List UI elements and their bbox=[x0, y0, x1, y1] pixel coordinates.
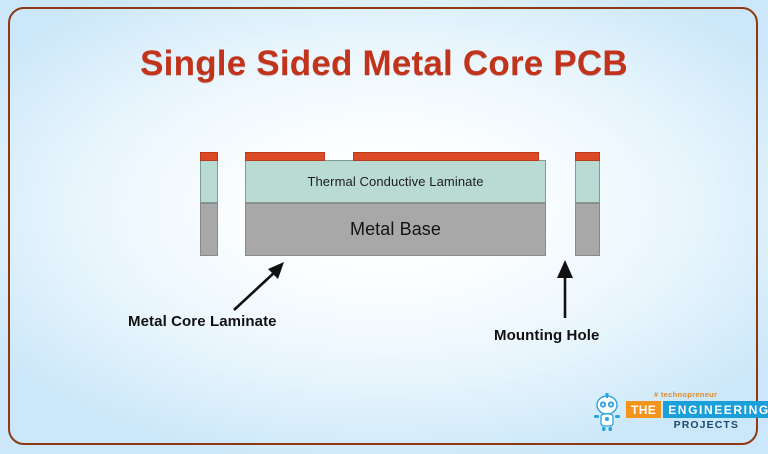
thermal-conductive-laminate-label: Thermal Conductive Laminate bbox=[307, 174, 483, 189]
left-edge-stack bbox=[200, 160, 218, 256]
page-title: Single Sided Metal Core PCB bbox=[0, 44, 768, 84]
right-metal-base-segment bbox=[575, 203, 600, 256]
right-edge-stack bbox=[575, 160, 600, 256]
copper-trace-segment-4 bbox=[575, 152, 600, 161]
main-pcb-stack: Thermal Conductive Laminate Metal Base bbox=[245, 160, 546, 256]
logo-tagline: # technopreneur bbox=[654, 390, 717, 399]
metal-base-label: Metal Base bbox=[350, 219, 441, 240]
mounting-hole-label: Mounting Hole bbox=[494, 327, 599, 344]
slide-canvas: Single Sided Metal Core PCB Thermal Cond… bbox=[0, 0, 768, 454]
copper-trace-segment-1 bbox=[200, 152, 218, 161]
copper-trace-segment-2 bbox=[245, 152, 325, 161]
logo-word-engineering: ENGINEERING bbox=[663, 401, 768, 418]
metal-base-layer: Metal Base bbox=[245, 203, 546, 256]
right-laminate-segment bbox=[575, 160, 600, 203]
logo-word-projects: PROJECTS bbox=[674, 419, 739, 431]
logo-wordmark: THE ENGINEERING bbox=[626, 401, 768, 418]
robot-mascot-icon bbox=[592, 393, 622, 433]
copper-trace-segment-3 bbox=[353, 152, 539, 161]
brand-logo[interactable]: # technopreneur THE ENGINEERING PROJECTS bbox=[592, 390, 742, 436]
thermal-conductive-laminate-layer: Thermal Conductive Laminate bbox=[245, 160, 546, 203]
logo-word-the: THE bbox=[626, 401, 661, 418]
left-laminate-segment bbox=[200, 160, 218, 203]
pcb-cross-section-diagram: Thermal Conductive Laminate Metal Base bbox=[200, 150, 600, 258]
mounting-hole-arrow-icon bbox=[552, 258, 578, 320]
metal-core-laminate-arrow-icon bbox=[228, 258, 290, 316]
metal-core-laminate-label: Metal Core Laminate bbox=[128, 313, 277, 330]
left-metal-base-segment bbox=[200, 203, 218, 256]
